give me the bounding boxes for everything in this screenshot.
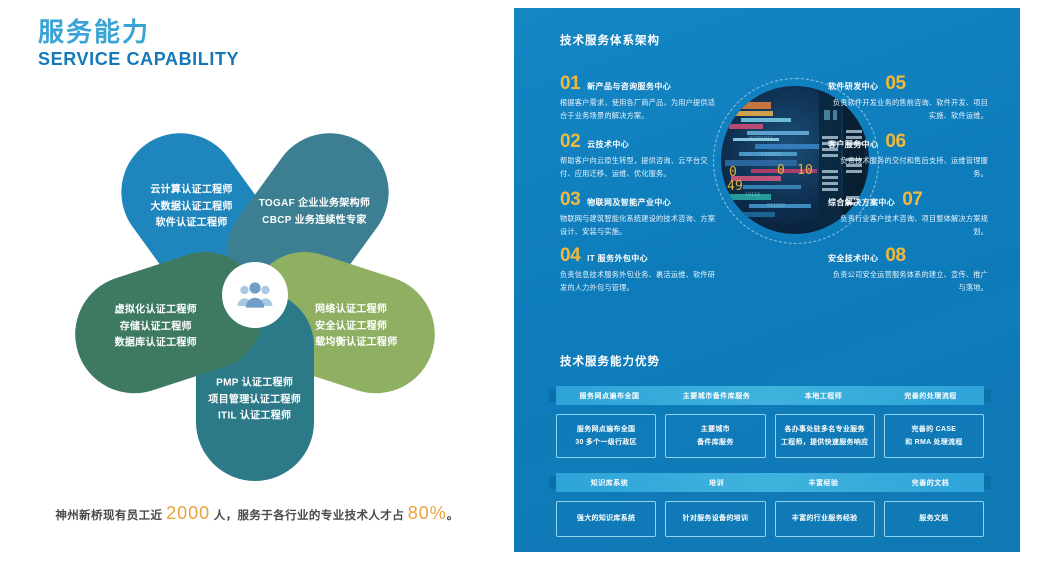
svg-text:9: 9	[735, 179, 743, 194]
item-body: 负责行业客户技术咨询、项目整体解决方案规划。	[828, 213, 988, 238]
item-number: 02	[560, 132, 580, 151]
table-header-row: 知识库系统 培训 丰富经验 完善的文档	[556, 473, 984, 492]
petal-line: 网络认证工程师	[305, 301, 398, 318]
petal-line: 安全认证工程师	[305, 318, 398, 335]
petal-line: ITIL 认证工程师	[209, 408, 302, 425]
svg-text:0: 0	[729, 165, 737, 180]
service-item-02: 02 云技术中心 帮助客户向云原生转型，提供咨询、云平台交付、应用迁移、运维、优…	[560, 132, 720, 180]
petal-line: 软件认证工程师	[150, 216, 232, 233]
service-item-03: 03 物联网及智能产业中心 物联网与建筑智能化系统建设的技术咨询、方案设计、安装…	[560, 190, 720, 238]
table-body-row: 服务网点遍布全国 30 多个一级行政区 主要城市 备件库服务 各办事处驻多名专业…	[556, 414, 984, 458]
item-name: 物联网及智能产业中心	[587, 197, 671, 208]
item-number: 04	[560, 246, 580, 265]
cell-line: 服务网点遍布全国	[577, 426, 635, 433]
petal-line: 云计算认证工程师	[150, 183, 232, 200]
ribbon-notch-right	[984, 476, 991, 489]
svg-text:4: 4	[727, 179, 735, 194]
item-body: 负责公司安全运营服务体系的建立、宣传、推广与落地。	[828, 269, 988, 294]
service-item-04: 04 IT 服务外包中心 负责信息技术服务外包业务、裹活运维、软件研发的人力外包…	[560, 246, 720, 294]
caption-part-2: 人，服务于各行业的专业技术人才占	[210, 510, 408, 522]
petal-line: CBCP 业务连续性专家	[259, 212, 371, 229]
caption-part-3: 。	[447, 510, 459, 522]
table-header-cell: 完善的处理流程	[877, 391, 984, 401]
ribbon-notch-right	[984, 389, 991, 402]
ribbon-notch-left	[549, 476, 556, 489]
item-name: 综合解决方案中心	[828, 197, 895, 208]
item-name: 安全技术中心	[828, 253, 878, 264]
table-body-row: 强大的知识库系统 针对服务设备的培训 丰富的行业服务经验 服务文档	[556, 501, 984, 537]
advantage-table-2: 知识库系统 培训 丰富经验 完善的文档 强大的知识库系统 针对服务设备的培训 丰…	[556, 473, 984, 537]
svg-text:10110: 10110	[745, 192, 760, 198]
table-header-cell: 主要城市备件库服务	[663, 391, 770, 401]
svg-text:01001011: 01001011	[749, 136, 773, 142]
table-cell: 服务文档	[884, 501, 984, 537]
cell-line: 和 RMA 处理流程	[905, 439, 963, 446]
cell-line: 主要城市	[701, 426, 730, 433]
item-body: 帮助客户向云原生转型，提供咨询、云平台交付、应用迁移、运维、优化服务。	[560, 155, 720, 180]
petal-line: 数据库认证工程师	[115, 335, 197, 352]
service-item-06: 06 客户服务中心 负责技术服务的交付和售后支持、运维管理服务。	[828, 132, 988, 180]
cell-line: 工程师，提供快速服务响应	[781, 439, 869, 446]
item-body: 物联网与建筑智能化系统建设的技术咨询、方案设计、安装与实施。	[560, 213, 720, 238]
table-header-cell: 本地工程师	[770, 391, 877, 401]
section-title-advantages: 技术服务能力优势	[560, 353, 660, 369]
table-cell: 完善的 CASE 和 RMA 处理流程	[884, 414, 984, 458]
people-group-icon	[222, 262, 288, 328]
service-item-08: 08 安全技术中心 负责公司安全运营服务体系的建立、宣传、推广与落地。	[828, 246, 988, 294]
cell-line: 备件库服务	[697, 439, 734, 446]
item-number: 01	[560, 74, 580, 93]
petal-line: 项目管理认证工程师	[209, 392, 302, 409]
item-number: 03	[560, 190, 580, 209]
svg-text:0: 0	[805, 163, 813, 178]
item-body: 负责信息技术服务外包业务、裹活运维、软件研发的人力外包与管理。	[560, 269, 720, 294]
caption-part-1: 神州新桥现有员工近	[55, 510, 166, 522]
item-name: IT 服务外包中心	[587, 253, 648, 264]
service-item-07: 07 综合解决方案中心 负责行业客户技术咨询、项目整体解决方案规划。	[828, 190, 988, 238]
item-name: 软件研发中心	[828, 81, 878, 92]
petal-line: TOGAF 企业业务架构师	[259, 196, 371, 213]
item-number: 07	[902, 190, 922, 209]
item-number: 08	[885, 246, 905, 265]
service-item-01: 01 新产品与咨询服务中心 根据客户需求，使用各厂商产品，为用户提供适合于业务场…	[560, 74, 720, 122]
caption-employee-count: 2000	[166, 503, 210, 523]
item-body: 负责软件开发业务的售前咨询、软件开发、项目实施、软件运维。	[828, 97, 988, 122]
page-title-en: SERVICE CAPABILITY	[38, 49, 239, 70]
table-cell: 针对服务设备的培训	[665, 501, 765, 537]
item-name: 云技术中心	[587, 139, 629, 150]
section-title-architecture: 技术服务体系架构	[560, 32, 660, 48]
table-header-cell: 培训	[663, 478, 770, 488]
table-header-cell: 服务网点遍布全国	[556, 391, 663, 401]
item-body: 根据客户需求，使用各厂商产品，为用户提供适合于业务场景的解决方案。	[560, 97, 720, 122]
cell-line: 完善的 CASE	[911, 426, 956, 433]
item-name: 新产品与咨询服务中心	[587, 81, 671, 92]
cell-line: 30 多个一级行政区	[575, 439, 637, 446]
table-header-cell: 丰富经验	[770, 478, 877, 488]
advantage-table-1: 服务网点遍布全国 主要城市备件库服务 本地工程师 完善的处理流程 服务网点遍布全…	[556, 386, 984, 458]
page-title-cn: 服务能力	[38, 18, 239, 47]
table-header-row: 服务网点遍布全国 主要城市备件库服务 本地工程师 完善的处理流程	[556, 386, 984, 405]
svg-text:011010: 011010	[767, 203, 785, 209]
employee-statistics-caption: 神州新桥现有员工近 2000 人，服务于各行业的专业技术人才占 80%。	[0, 503, 514, 524]
petal-line: 负载均衡认证工程师	[305, 334, 398, 351]
cell-line: 各办事处驻多名专业服务	[784, 426, 864, 433]
petal-line: PMP 认证工程师	[209, 375, 302, 392]
petal-line: 大数据认证工程师	[150, 199, 232, 216]
item-number: 06	[885, 132, 905, 151]
page-title: 服务能力 SERVICE CAPABILITY	[38, 18, 239, 70]
table-cell: 主要城市 备件库服务	[665, 414, 765, 458]
item-body: 负责技术服务的交付和售后支持、运维管理服务。	[828, 155, 988, 180]
svg-text:1101001: 1101001	[761, 152, 782, 158]
ribbon-notch-left	[549, 389, 556, 402]
svg-text:1: 1	[797, 163, 805, 178]
petal-line: 虚拟化认证工程师	[115, 302, 197, 319]
left-pane: 服务能力 SERVICE CAPABILITY 云计算认证工程师 大数据认证工程…	[0, 0, 514, 576]
table-cell: 强大的知识库系统	[556, 501, 656, 537]
caption-percentage: 80%	[408, 503, 447, 523]
service-item-05: 05 软件研发中心 负责软件开发业务的售前咨询、软件开发、项目实施、软件运维。	[828, 74, 988, 122]
item-number: 05	[885, 74, 905, 93]
petal-line: 存储认证工程师	[115, 319, 197, 336]
table-cell: 各办事处驻多名专业服务 工程师，提供快速服务响应	[775, 414, 875, 458]
table-cell: 丰富的行业服务经验	[775, 501, 875, 537]
table-header-cell: 知识库系统	[556, 478, 663, 488]
tech-service-panel: 技术服务体系架构	[514, 8, 1020, 552]
svg-text:0: 0	[777, 163, 785, 178]
table-cell: 服务网点遍布全国 30 多个一级行政区	[556, 414, 656, 458]
capability-flower-diagram: 云计算认证工程师 大数据认证工程师 软件认证工程师 TOGAF 企业业务架构师 …	[35, 95, 475, 495]
table-header-cell: 完善的文档	[877, 478, 984, 488]
item-name: 客户服务中心	[828, 139, 878, 150]
